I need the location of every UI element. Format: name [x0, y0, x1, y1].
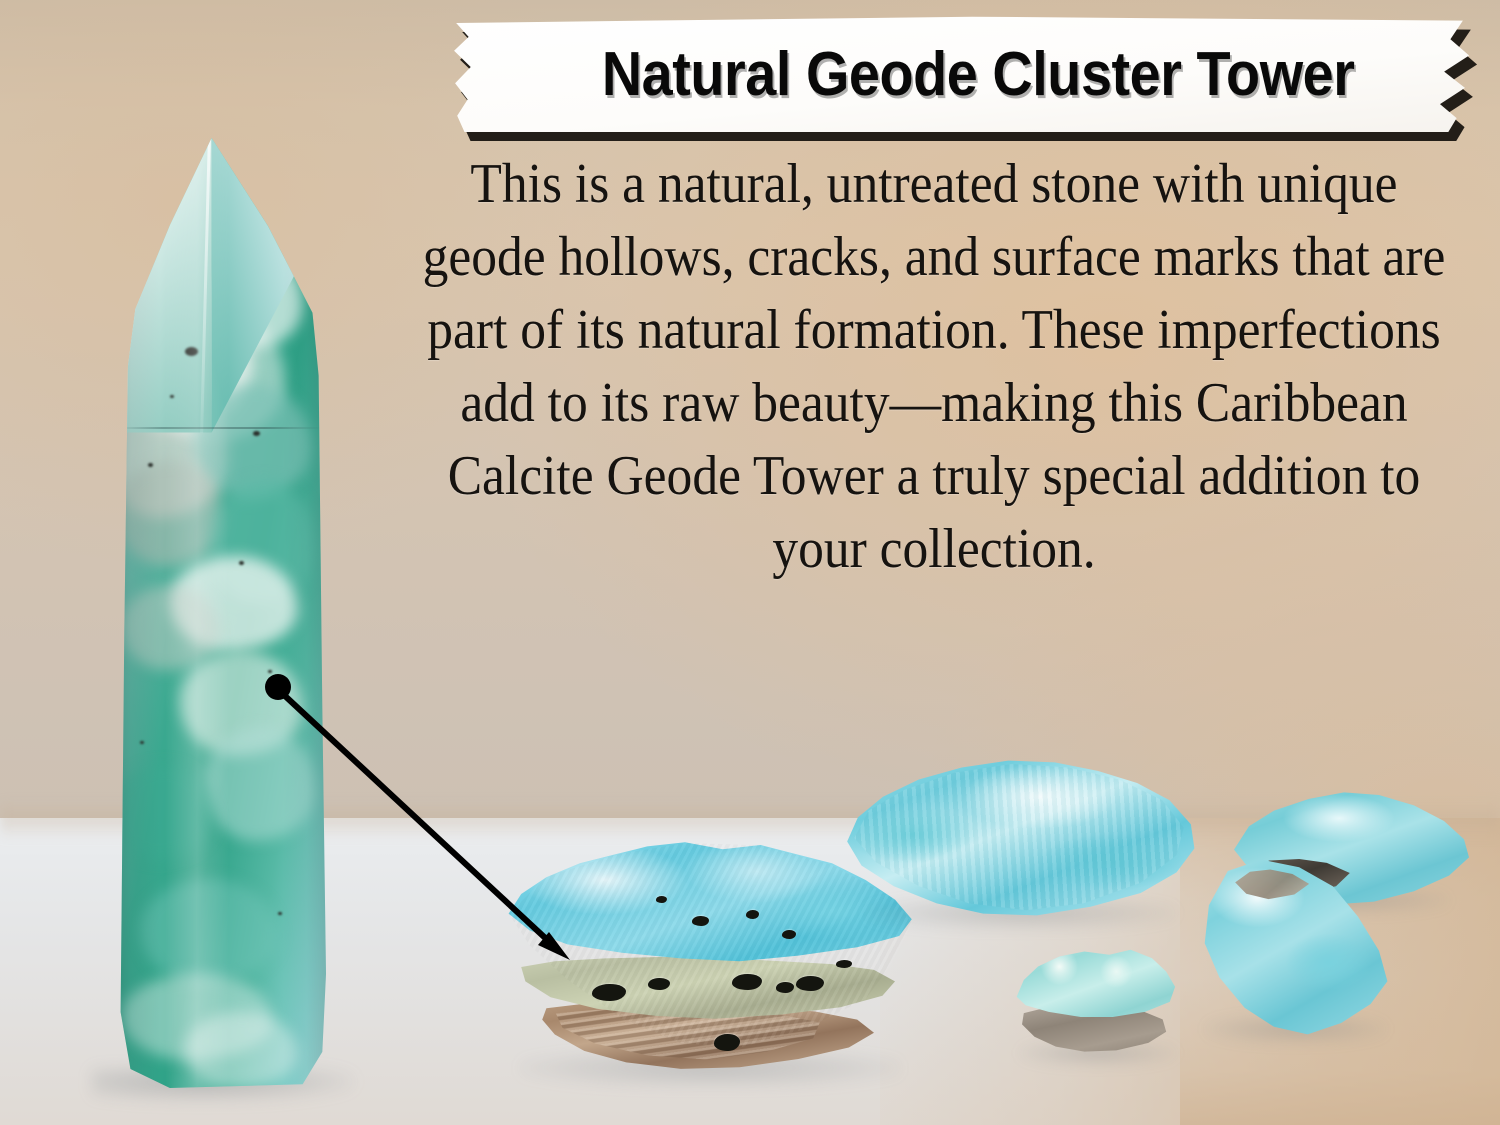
geode-slab-cavities [746, 910, 759, 919]
oval-mass-texture [840, 752, 1198, 924]
geode-slab-cavities [776, 982, 794, 993]
geode-slab-cavities [732, 974, 762, 990]
botryoidal-nugget [1006, 938, 1184, 1064]
geode-slab-cavities [836, 960, 852, 968]
oval-mass [840, 752, 1198, 924]
callout-arrow-line [284, 695, 556, 948]
geode-slab-cavities [656, 896, 667, 903]
geode-slab-cavities [714, 1034, 740, 1051]
callout-arrow [250, 655, 610, 985]
tower-geode-hollow [239, 561, 244, 565]
triangular-chunk [1190, 852, 1400, 1042]
geode-slab-cavities [782, 930, 796, 939]
tower-geode-hollow [253, 431, 260, 436]
product-infographic: Natural Geode Cluster Tower This is a na… [0, 0, 1500, 1125]
tower-highlight-sheen [165, 138, 229, 1088]
title-banner: Natural Geode Cluster Tower [452, 16, 1500, 138]
title-banner-paper: Natural Geode Cluster Tower [452, 16, 1492, 132]
geode-slab-cavities [648, 978, 670, 990]
geode-slab-cavities [796, 976, 824, 991]
geode-slab-cavities [592, 984, 626, 1001]
botryoidal-nugget-crust [1006, 938, 1184, 1022]
tower-left-edge-shading [96, 138, 160, 1088]
geode-slab-cavities [692, 916, 709, 926]
product-description: This is a natural, untreated stone with … [417, 148, 1451, 586]
page-title: Natural Geode Cluster Tower [602, 39, 1355, 110]
